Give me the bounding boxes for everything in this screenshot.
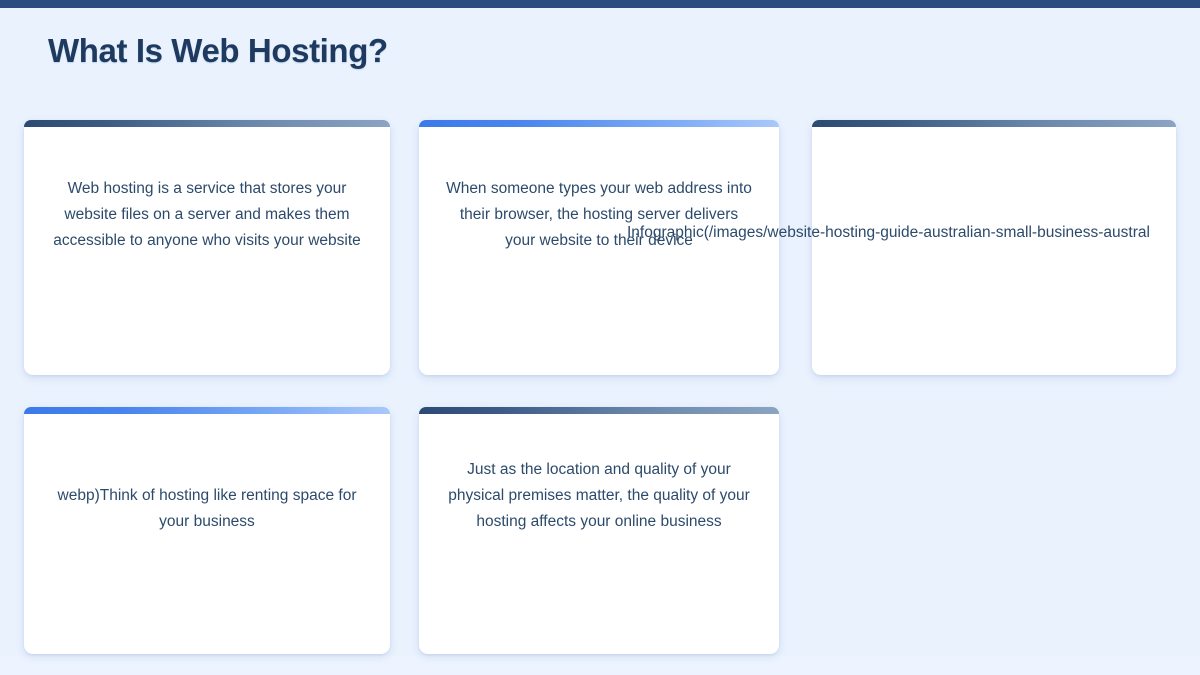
- top-accent-strip: [0, 0, 1200, 8]
- card-accent-bar: [24, 120, 390, 127]
- info-card-2[interactable]: When someone types your web address into…: [419, 120, 779, 375]
- card-text: When someone types your web address into…: [419, 176, 779, 254]
- card-accent-bar: [24, 407, 390, 414]
- info-card-3[interactable]: Infographic(/images/website-hosting-guid…: [812, 120, 1176, 375]
- card-accent-bar: [419, 120, 779, 127]
- bottom-band: [0, 656, 1200, 675]
- info-card-4[interactable]: webp)Think of hosting like renting space…: [24, 407, 390, 654]
- card-text: webp)Think of hosting like renting space…: [24, 483, 390, 535]
- card-accent-bar: [419, 407, 779, 414]
- card-accent-bar: [812, 120, 1176, 127]
- page-canvas: What Is Web Hosting? Web hosting is a se…: [0, 8, 1200, 675]
- page-title: What Is Web Hosting?: [48, 32, 388, 70]
- info-card-1[interactable]: Web hosting is a service that stores you…: [24, 120, 390, 375]
- card-text: Web hosting is a service that stores you…: [24, 176, 390, 254]
- card-text: Just as the location and quality of your…: [419, 457, 779, 535]
- info-card-5[interactable]: Just as the location and quality of your…: [419, 407, 779, 654]
